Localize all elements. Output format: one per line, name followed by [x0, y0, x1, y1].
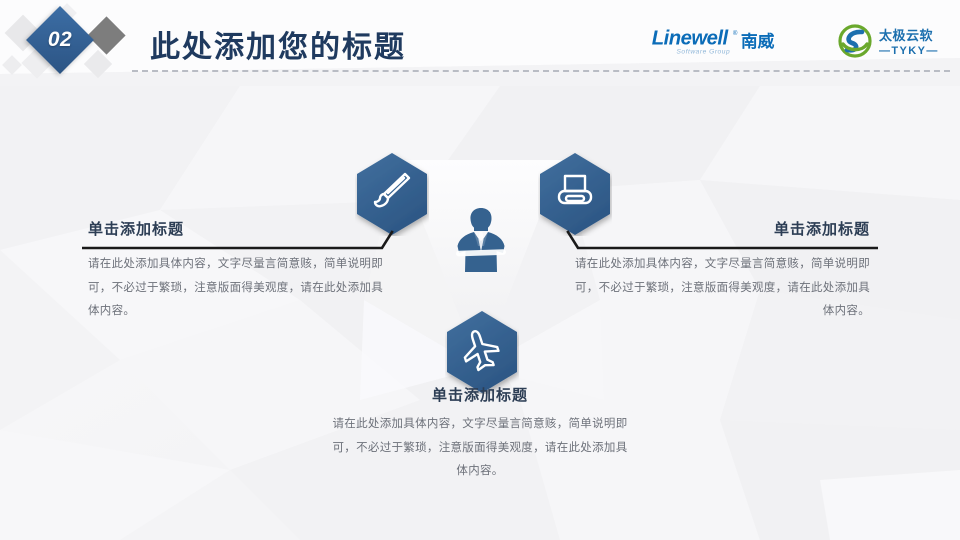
text-block-right: 单击添加标题 请在此处添加具体内容，文字尽量言简意赅，简单说明即可，不必过于繁琐… — [570, 218, 870, 324]
svg-text:—TYKY—: —TYKY— — [879, 45, 939, 57]
slide-canvas: 02 此处添加您的标题 Linewell ® 南威 Software Group… — [0, 0, 960, 540]
right-block-title: 单击添加标题 — [570, 218, 870, 239]
svg-text:太极云软: 太极云软 — [878, 28, 933, 43]
node-airplane-hexagon[interactable] — [445, 310, 519, 394]
svg-text:Software Group: Software Group — [676, 48, 730, 55]
left-block-title: 单击添加标题 — [88, 218, 388, 239]
bottom-block-body: 请在此处添加具体内容，文字尽量言简意赅，简单说明即可，不必过于繁琐，注意版面得美… — [330, 413, 630, 484]
bottom-block-title: 单击添加标题 — [330, 384, 630, 405]
header-divider — [132, 70, 950, 72]
svg-text:®: ® — [733, 30, 738, 37]
linewell-logo: Linewell ® 南威 Software Group — [640, 26, 840, 56]
svg-text:南威: 南威 — [741, 31, 775, 51]
section-number: 02 — [36, 16, 84, 64]
left-block-body: 请在此处添加具体内容，文字尽量言简意赅，简单说明即可，不必过于繁琐，注意版面得美… — [88, 253, 388, 324]
text-block-bottom: 单击添加标题 请在此处添加具体内容，文字尽量言简意赅，简单说明即可，不必过于繁琐… — [330, 384, 630, 484]
page-title: 此处添加您的标题 — [150, 22, 406, 66]
svg-text:Linewell: Linewell — [652, 28, 729, 50]
text-block-left: 单击添加标题 请在此处添加具体内容，文字尽量言简意赅，简单说明即可，不必过于繁琐… — [88, 218, 388, 324]
tyky-logo: 太极云软 —TYKY— — [838, 24, 950, 58]
right-block-body: 请在此处添加具体内容，文字尽量言简意赅，简单说明即可，不必过于繁琐，注意版面得美… — [570, 253, 870, 324]
businessman-icon — [452, 204, 510, 274]
